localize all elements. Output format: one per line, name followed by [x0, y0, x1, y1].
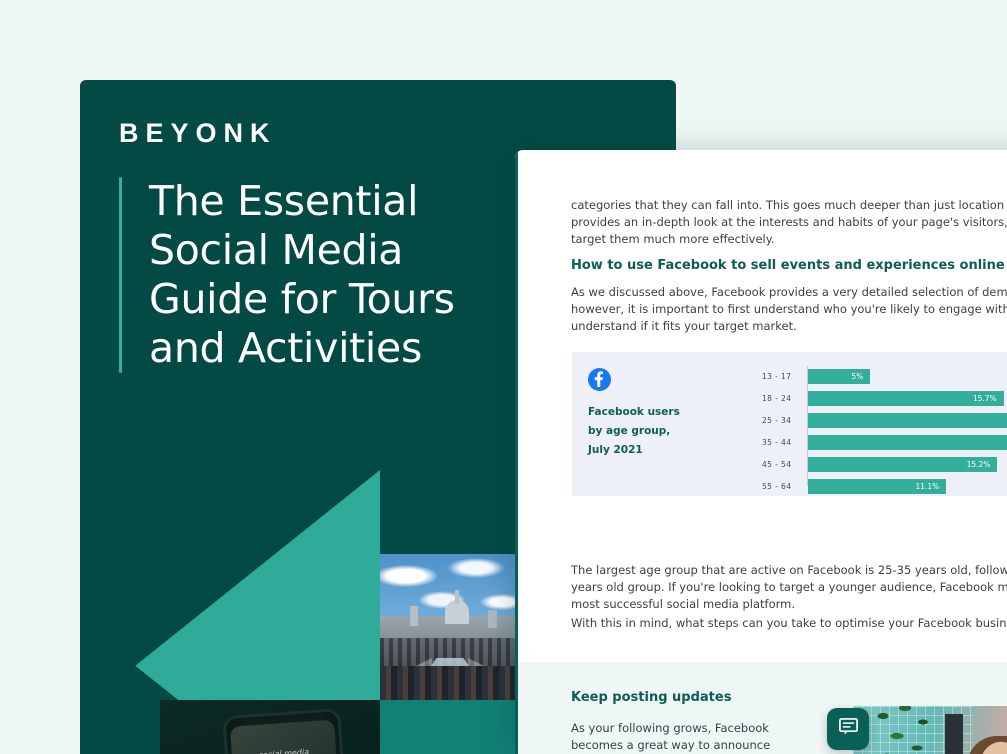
chart-row: 25 - 3425.2%: [762, 413, 1007, 428]
chart-row: 55 - 6411.1%: [762, 479, 1007, 494]
section-heading-keep-posting: Keep posting updates: [571, 690, 731, 705]
chart-row: 35 - 4418.5%: [762, 435, 1007, 450]
section-heading-facebook: How to use Facebook to sell events and e…: [571, 258, 1007, 273]
chart-bar: 15.7%: [808, 391, 1004, 406]
chart-title-line-3: July 2021: [588, 441, 680, 460]
chart-value-label: 15.7%: [973, 394, 1004, 403]
chart-plot-area: 13 - 175%18 - 2415.7%25 - 3425.2%35 - 44…: [762, 366, 1007, 486]
chat-widget-button[interactable]: [827, 708, 869, 750]
facebook-icon: [588, 368, 611, 396]
cover-title-block: The Essential Social Media Guide for Tou…: [119, 177, 509, 373]
chart-category-label: 25 - 34: [762, 413, 802, 428]
paragraph-optimise-question: With this in mind, what steps can you ta…: [571, 615, 1007, 632]
paragraph-intro: categories that they can fall into. This…: [571, 197, 1007, 248]
photo-phone-body: social media LinkedIn Snapchat Pinterest…: [222, 708, 352, 754]
brand-logo-beyonk: BEYONK: [119, 118, 277, 149]
chart-row: 13 - 175%: [762, 369, 1007, 384]
chart-title: Facebook users by age group, July 2021: [588, 403, 680, 460]
chart-category-label: 45 - 54: [762, 457, 802, 472]
photo-tower-right: [488, 610, 497, 628]
chart-title-line-1: Facebook users: [588, 403, 680, 422]
chart-bar: 25.2%: [808, 413, 1007, 428]
chart-row: 45 - 5415.2%: [762, 457, 1007, 472]
chart-category-label: 55 - 64: [762, 479, 802, 494]
chart-value-label: 11.1%: [915, 482, 946, 491]
chart-category-label: 35 - 44: [762, 435, 802, 450]
cover-heart-tile: [380, 700, 520, 754]
cover-photo-phone: social media LinkedIn Snapchat Pinterest…: [160, 700, 380, 754]
chart-bar: 18.5%: [808, 435, 1007, 450]
photo-phone-screen: social media LinkedIn Snapchat Pinterest…: [230, 720, 345, 754]
photo-plant: [871, 706, 947, 754]
phone-folder-label: social media: [232, 745, 336, 754]
title-accent-rule: [119, 177, 122, 373]
chart-value-label: 15.2%: [967, 460, 998, 469]
paragraph-largest-age-group: The largest age group that are active on…: [571, 562, 1007, 613]
cover-photo-city: [380, 554, 520, 700]
photo-tower-left: [410, 606, 418, 626]
paragraph-following-grows: As your following grows, Facebook become…: [571, 720, 791, 754]
facebook-age-chart-card: Facebook users by age group, July 2021 1…: [572, 352, 1007, 496]
chart-category-label: 18 - 24: [762, 391, 802, 406]
chart-bar: 5%: [808, 369, 870, 384]
page-root: BEYONK The Essential Social Media Guide …: [0, 0, 1007, 754]
ebook-document-panel[interactable]: categories that they can fall into. This…: [515, 150, 1007, 754]
paragraph-demographics: As we discussed above, Facebook provides…: [571, 284, 1007, 335]
document-spine: [515, 150, 518, 754]
photo-foreground-crowd: [380, 666, 520, 700]
chart-value-label: 5%: [851, 372, 870, 381]
chart-category-label: 13 - 17: [762, 369, 802, 384]
chat-icon: [838, 716, 859, 742]
document-inner: categories that they can fall into. This…: [515, 150, 1007, 754]
page-title: The Essential Social Media Guide for Tou…: [149, 177, 509, 373]
chart-bar: 15.2%: [808, 457, 997, 472]
document-photo-workspace: [853, 706, 1007, 754]
photo-cathedral-dome: [442, 590, 472, 624]
photo-phone-notch: [274, 726, 290, 730]
chart-row: 18 - 2415.7%: [762, 391, 1007, 406]
photo-monitor: [945, 714, 963, 754]
chart-title-line-2: by age group,: [588, 422, 680, 441]
chart-bar: 11.1%: [808, 479, 946, 494]
